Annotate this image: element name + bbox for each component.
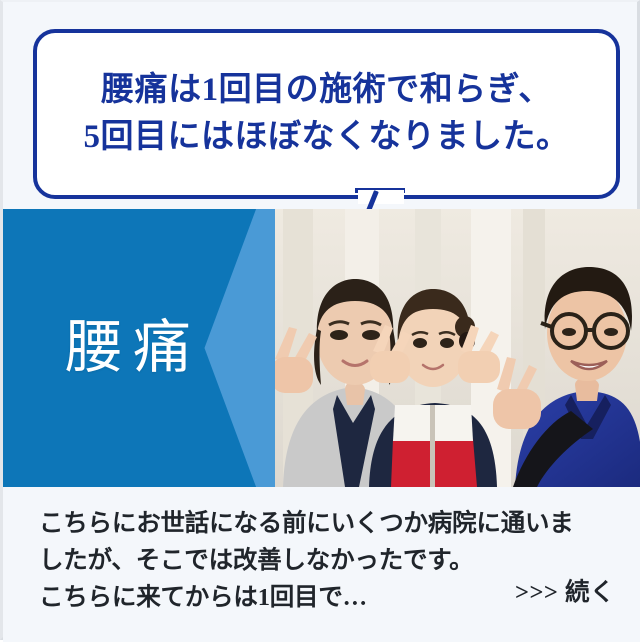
speech-bubble: 腰痛は1回目の施術で和らぎ、 5回目にはほぼなくなりました。 [33, 29, 620, 199]
symptom-banner: 腰痛 [3, 209, 275, 487]
speech-bubble-area: 腰痛は1回目の施術で和らぎ、 5回目にはほぼなくなりました。 [3, 2, 640, 209]
symptom-banner-label: 腰痛 [65, 319, 201, 377]
banner-photo-row: 腰痛 [3, 209, 640, 487]
speech-bubble-quote: 腰痛は1回目の施術で和らぎ、 5回目にはほぼなくなりました。 [70, 67, 584, 161]
patient-photo-illustration [275, 209, 640, 487]
read-more-link[interactable]: >>> 続く [515, 573, 615, 608]
bubble-tail-mask [358, 190, 404, 204]
caption-area: こちらにお世話になる前にいくつか病院に通いま したが、そこでは改善しなかったです… [3, 487, 640, 642]
patient-photo [275, 209, 640, 487]
testimonial-card: 腰痛は1回目の施術で和らぎ、 5回目にはほぼなくなりました。 腰痛 [0, 0, 640, 640]
